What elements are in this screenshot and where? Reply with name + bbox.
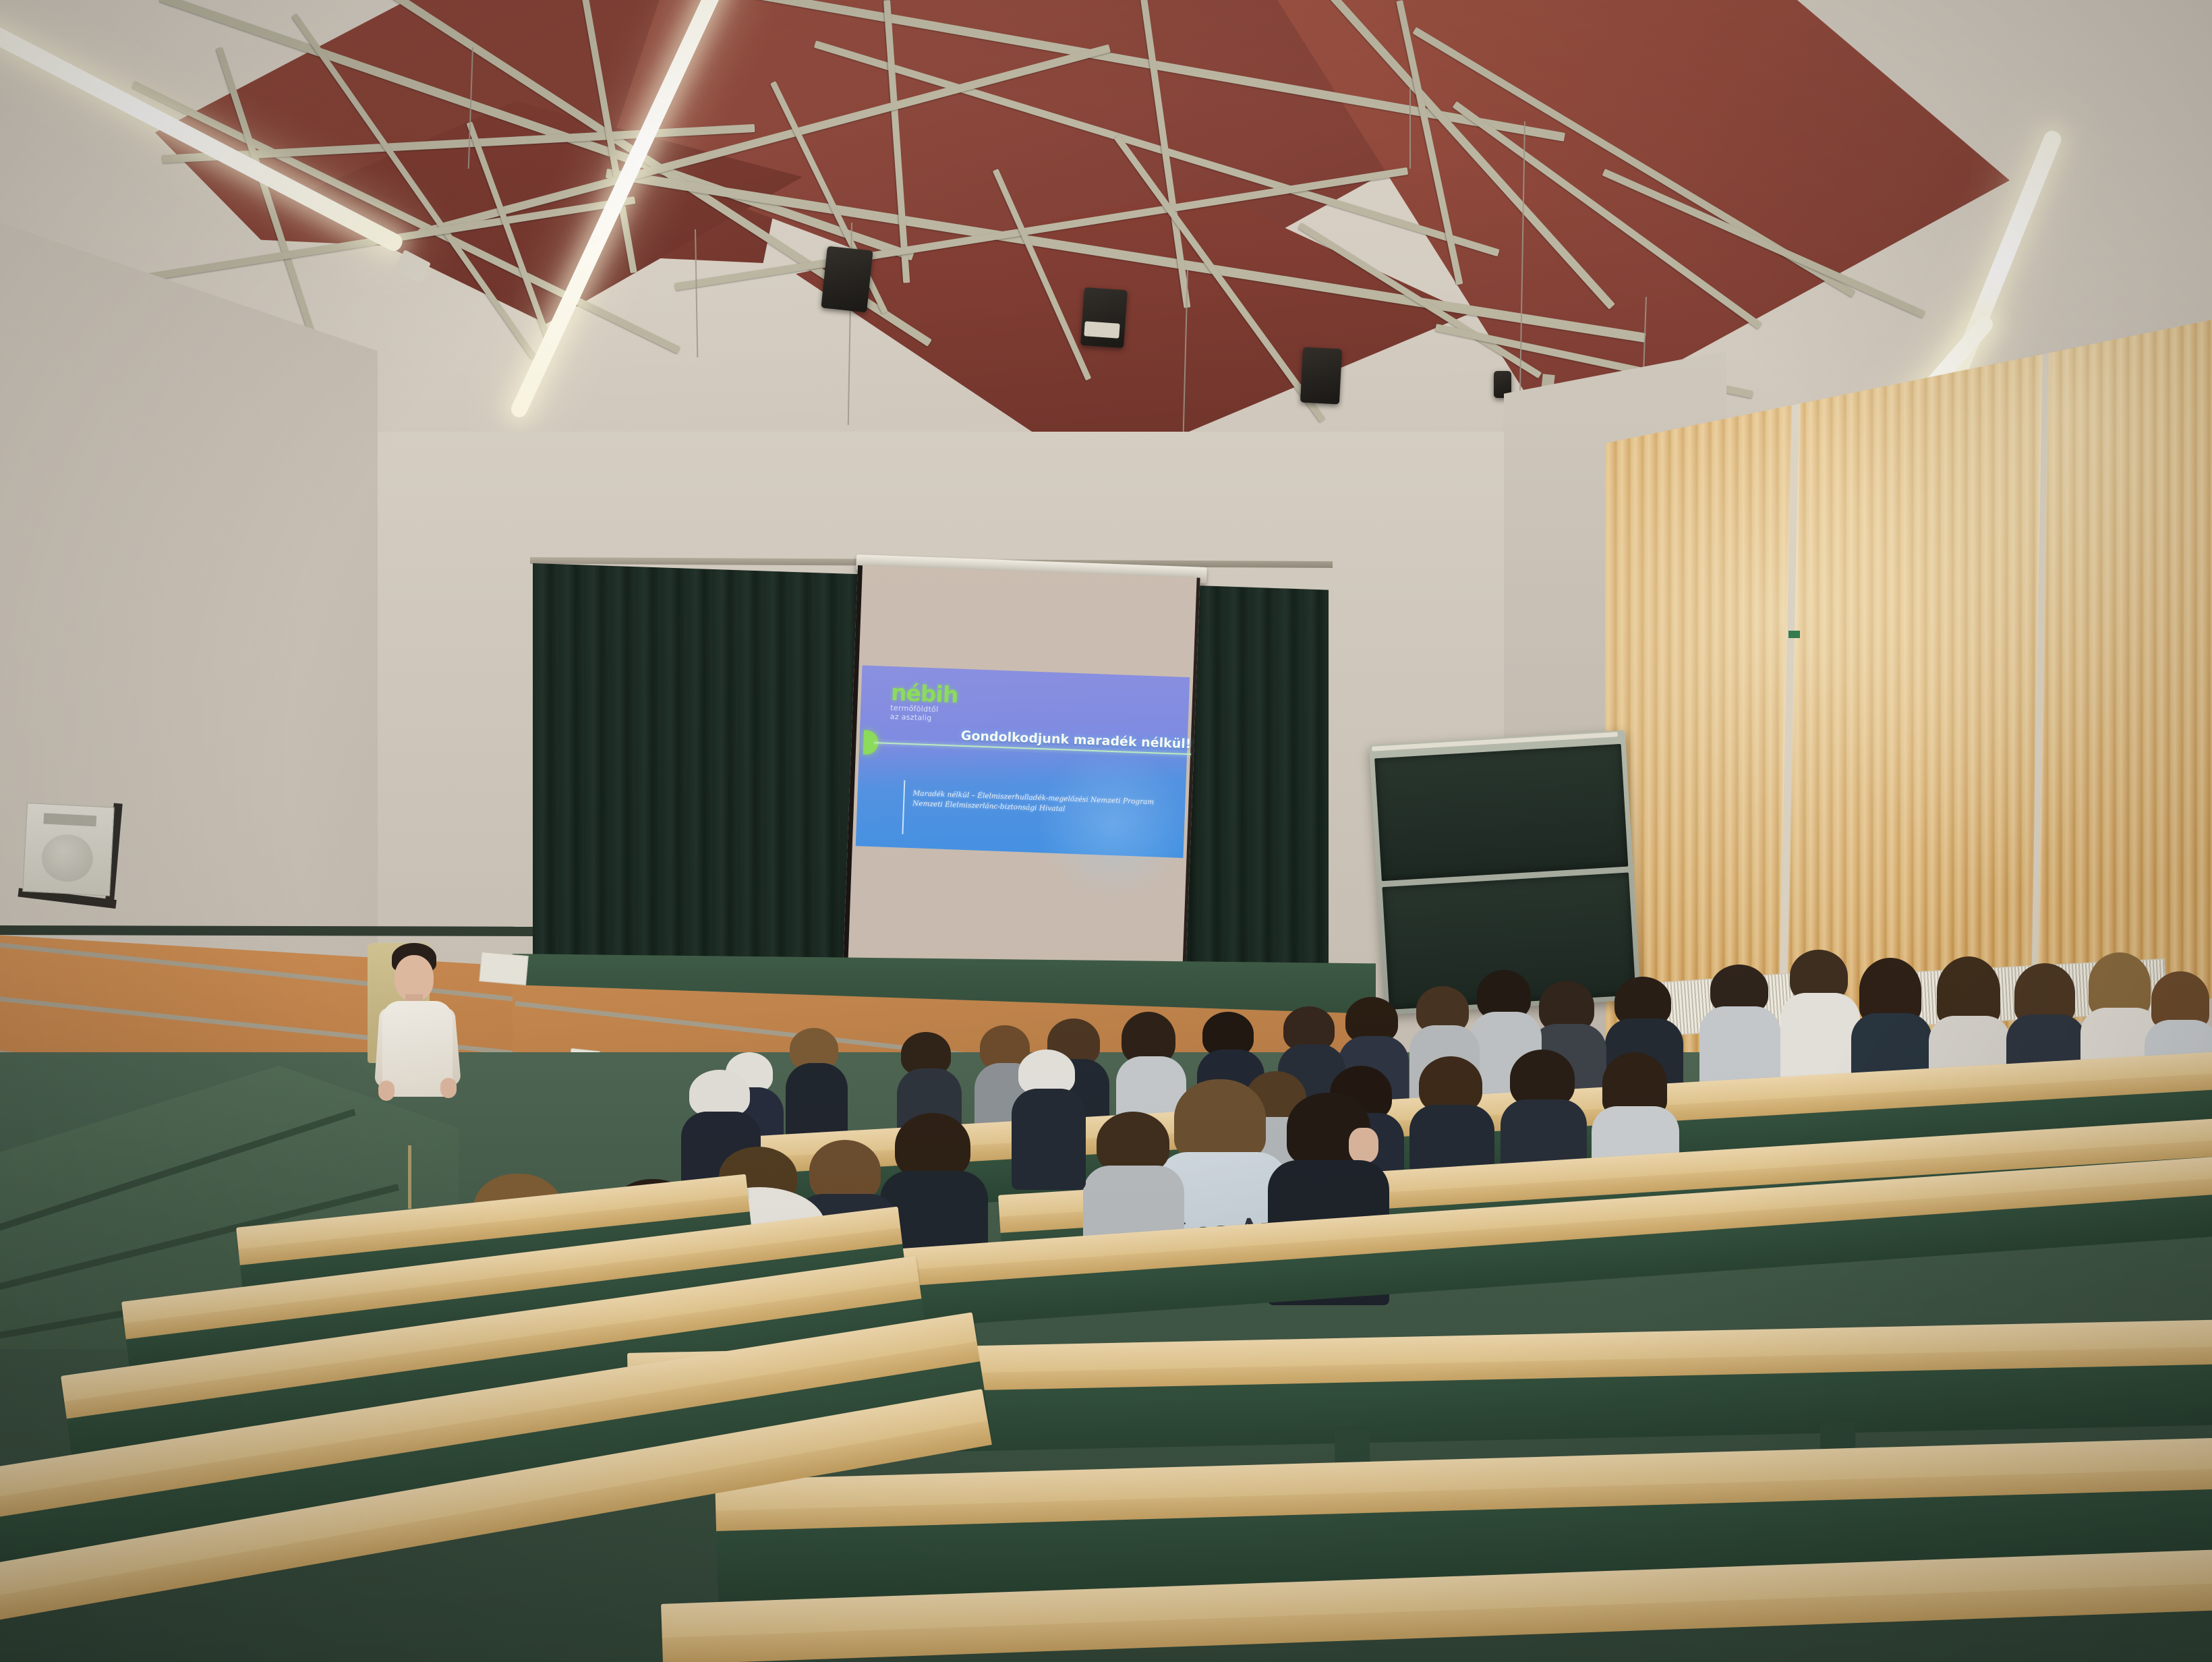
student [1012, 1050, 1086, 1178]
projection-screen: nébih termőföldtől az asztalig Gondolkod… [843, 565, 1200, 989]
slide-subtitle-bar [902, 780, 905, 834]
chalkboard-pane [1374, 744, 1628, 881]
presenter [368, 943, 469, 1213]
exit-marker [1788, 631, 1800, 638]
hanging-speaker [1080, 287, 1128, 348]
student [1780, 950, 1860, 1091]
logo-tagline-line2: az asztalig [890, 712, 958, 722]
lecture-hall-photo: nébih termőföldtől az asztalig Gondolkod… [0, 0, 2212, 1662]
nebih-logo: nébih termőföldtől az asztalig [890, 681, 958, 723]
slide-glow [1033, 745, 1194, 905]
slide-title: Gondolkodjunk maradék nélkül! [960, 728, 1197, 752]
spotlight-lens [1084, 321, 1119, 339]
logo-wordmark: nébih [891, 681, 958, 706]
hanging-speaker [1300, 347, 1342, 405]
dado-trim [0, 925, 533, 936]
face-profile [1349, 1128, 1378, 1163]
wall-speaker [22, 803, 125, 909]
hanging-spotlight [821, 246, 873, 313]
wall-notice-sign [479, 952, 529, 985]
presentation-slide: nébih termőföldtől az asztalig Gondolkod… [856, 665, 1190, 858]
